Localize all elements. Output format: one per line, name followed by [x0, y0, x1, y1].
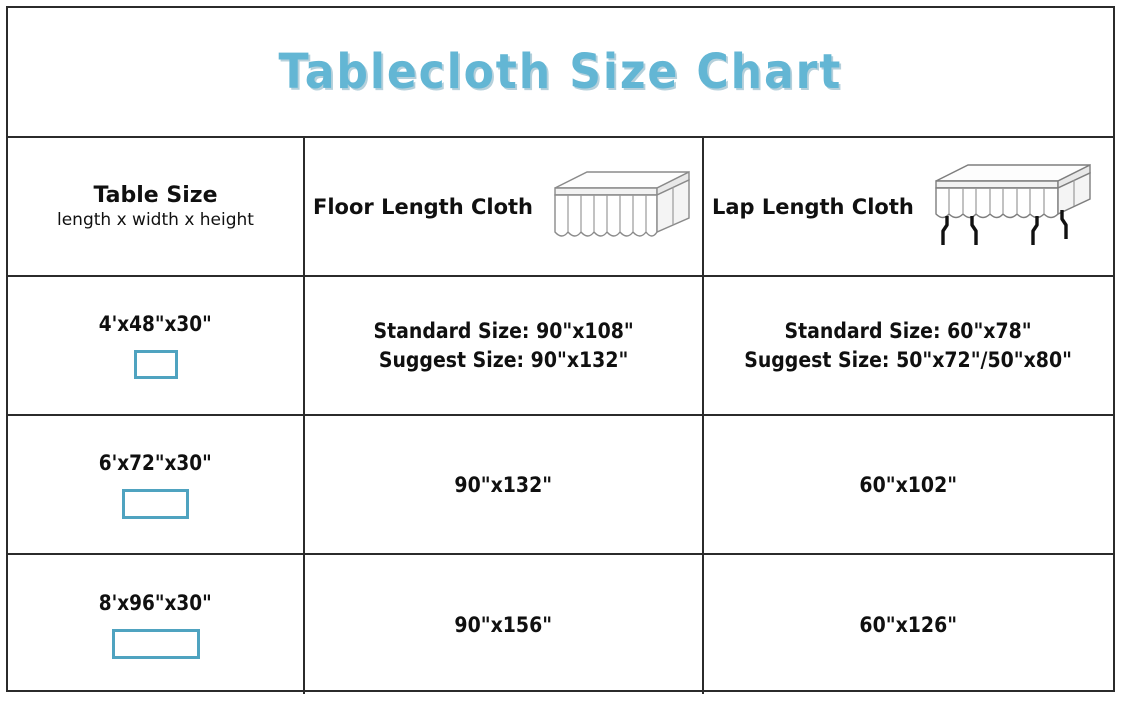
table-shape-swatch — [134, 350, 178, 379]
cell-lap-length-value: 60"x102" — [704, 416, 1113, 553]
cell-floor-length-value: 90"x132" — [305, 416, 704, 553]
lap-suggest-size: Suggest Size: 50"x72"/50"x80" — [745, 346, 1073, 374]
page-title: Tablecloth Size Chart — [279, 44, 843, 100]
table-size-value: 4'x48"x30" — [99, 312, 212, 336]
cell-lap-length-value: Standard Size: 60"x78" Suggest Size: 50"… — [704, 277, 1113, 414]
floor-length-label: Floor Length Cloth — [313, 195, 533, 219]
table-size-title: Table Size — [94, 183, 218, 208]
floor-length-value: Standard Size: 90"x108" Suggest Size: 90… — [373, 317, 633, 374]
lap-length-value: Standard Size: 60"x78" Suggest Size: 50"… — [745, 317, 1073, 374]
lap-standard-size: Standard Size: 60"x78" — [745, 317, 1073, 345]
floor-length-tablecloth-icon — [537, 162, 697, 252]
cell-table-size: 6'x72"x30" — [8, 416, 305, 553]
floor-suggest-size: Suggest Size: 90"x132" — [373, 346, 633, 374]
floor-length-value: 90"x156" — [455, 613, 553, 637]
table-row: 4'x48"x30" Standard Size: 90"x108" Sugge… — [8, 277, 1113, 416]
table-header-row: Table Size length x width x height Floor… — [8, 138, 1113, 277]
header-cell-table-size: Table Size length x width x height — [8, 138, 305, 275]
header-cell-lap-length: Lap Length Cloth — [704, 138, 1113, 275]
cell-table-size: 4'x48"x30" — [8, 277, 305, 414]
table-size-value: 6'x72"x30" — [99, 451, 212, 475]
tablecloth-size-chart: Tablecloth Size Chart Table Size length … — [6, 6, 1115, 692]
lap-length-tablecloth-icon — [918, 157, 1103, 257]
table-row: 8'x96"x30" 90"x156" 60"x126" — [8, 555, 1113, 694]
header-cell-floor-length: Floor Length Cloth — [305, 138, 704, 275]
table-size-value: 8'x96"x30" — [99, 591, 212, 615]
floor-standard-size: Standard Size: 90"x108" — [373, 317, 633, 345]
cell-table-size: 8'x96"x30" — [8, 555, 305, 694]
table-shape-swatch — [122, 489, 189, 519]
lap-length-value: 60"x102" — [860, 473, 958, 497]
table-size-subtitle: length x width x height — [57, 211, 254, 231]
table-row: 6'x72"x30" 90"x132" 60"x102" — [8, 416, 1113, 555]
floor-length-value: 90"x132" — [455, 473, 553, 497]
cell-floor-length-value: 90"x156" — [305, 555, 704, 694]
table-shape-swatch — [112, 629, 200, 659]
size-table: Table Size length x width x height Floor… — [8, 138, 1113, 694]
cell-floor-length-value: Standard Size: 90"x108" Suggest Size: 90… — [305, 277, 704, 414]
cell-lap-length-value: 60"x126" — [704, 555, 1113, 694]
lap-length-value: 60"x126" — [860, 613, 958, 637]
title-band: Tablecloth Size Chart — [8, 8, 1113, 138]
lap-length-label: Lap Length Cloth — [712, 195, 914, 219]
